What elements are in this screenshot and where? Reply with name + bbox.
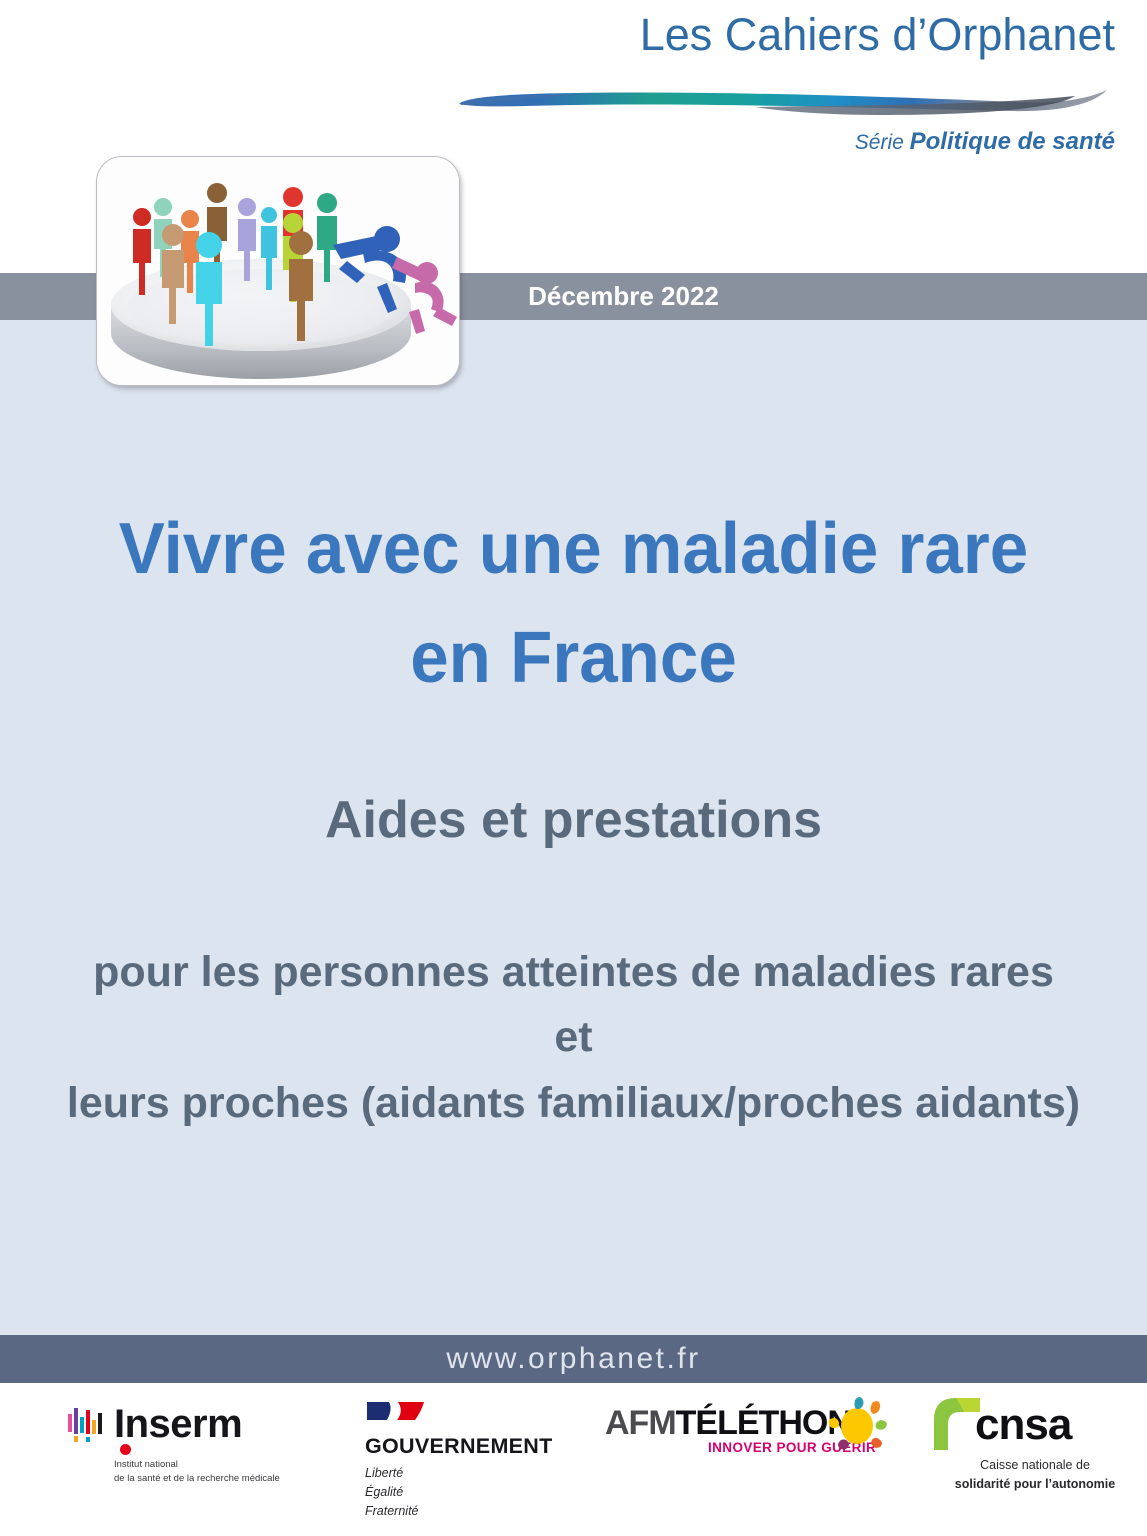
cover-illustration bbox=[96, 156, 460, 386]
inserm-bars-icon bbox=[68, 1408, 106, 1442]
series-name: Politique de santé bbox=[910, 128, 1115, 155]
page-subtitle: Aides et prestations bbox=[40, 790, 1107, 850]
gouvernement-motto: Liberté Égalité Fraternité bbox=[365, 1464, 585, 1520]
series-label: Série Politique de santé bbox=[855, 128, 1115, 156]
afm-wordmark-part-2: TÉLÉTHON bbox=[676, 1404, 851, 1442]
inserm-tagline-line-2: de la santé et de la recherche médicale bbox=[114, 1472, 280, 1486]
inserm-tagline-line-1: Institut national bbox=[114, 1458, 280, 1472]
cnsa-tagline: Caisse nationale de solidarité pour l’au… bbox=[930, 1456, 1140, 1495]
inserm-wordmark: Inserm bbox=[114, 1402, 242, 1447]
afm-telethon-wordmark: AFMTÉLÉTHON bbox=[605, 1404, 851, 1443]
inserm-tagline: Institut national de la santé et de la r… bbox=[114, 1458, 280, 1486]
french-flag-icon bbox=[367, 1400, 425, 1422]
description-line-1: pour les personnes atteintes de maladies… bbox=[24, 940, 1123, 1005]
gouvernement-wordmark: GOUVERNEMENT bbox=[365, 1434, 585, 1459]
afm-wordmark-part-1: AFM bbox=[605, 1404, 676, 1442]
publication-title: Les Cahiers d’Orphanet bbox=[455, 10, 1115, 60]
document-cover-page: Les Cahiers d’Orphanet bbox=[0, 0, 1147, 1536]
description-line-3: leurs proches (aidants familiaux/proches… bbox=[24, 1071, 1123, 1136]
motto-fraternite: Fraternité bbox=[365, 1502, 585, 1521]
cnsa-tagline-line-1: Caisse nationale de bbox=[930, 1456, 1140, 1475]
motto-egalite: Égalité bbox=[365, 1483, 585, 1502]
logo-afm-telethon: AFMTÉLÉTHON INNOVER POUR GUERIR bbox=[605, 1400, 895, 1450]
logo-inserm: Inserm Institut national de la santé et … bbox=[60, 1400, 350, 1452]
people-on-disc-icon bbox=[97, 157, 459, 385]
logo-cnsa: cnsa Caisse nationale de solidarité pour… bbox=[930, 1400, 1140, 1454]
motto-liberte: Liberté bbox=[365, 1464, 585, 1483]
swoosh-graphic bbox=[455, 78, 1115, 124]
publication-date: Décembre 2022 bbox=[0, 273, 1147, 320]
cnsa-tagline-line-2: solidarité pour l’autonomie bbox=[930, 1475, 1140, 1494]
page-title: Vivre avec une maladie rare en France bbox=[61, 495, 1085, 714]
inserm-dot-icon bbox=[120, 1444, 131, 1455]
afm-sun-icon bbox=[827, 1396, 893, 1458]
logo-gouvernement: GOUVERNEMENT Liberté Égalité Fraternité bbox=[365, 1400, 585, 1520]
title-line-1: Vivre avec une maladie rare bbox=[61, 495, 1085, 604]
description-line-2: et bbox=[24, 1005, 1123, 1070]
series-prefix: Série bbox=[855, 131, 910, 154]
cnsa-wordmark: cnsa bbox=[975, 1400, 1071, 1450]
title-line-2: en France bbox=[61, 604, 1085, 713]
website-url[interactable]: www.orphanet.fr bbox=[0, 1335, 1147, 1383]
masthead: Les Cahiers d’Orphanet bbox=[455, 10, 1115, 60]
cover-description: pour les personnes atteintes de maladies… bbox=[24, 940, 1123, 1136]
partner-logos: Inserm Institut national de la santé et … bbox=[0, 1400, 1147, 1536]
